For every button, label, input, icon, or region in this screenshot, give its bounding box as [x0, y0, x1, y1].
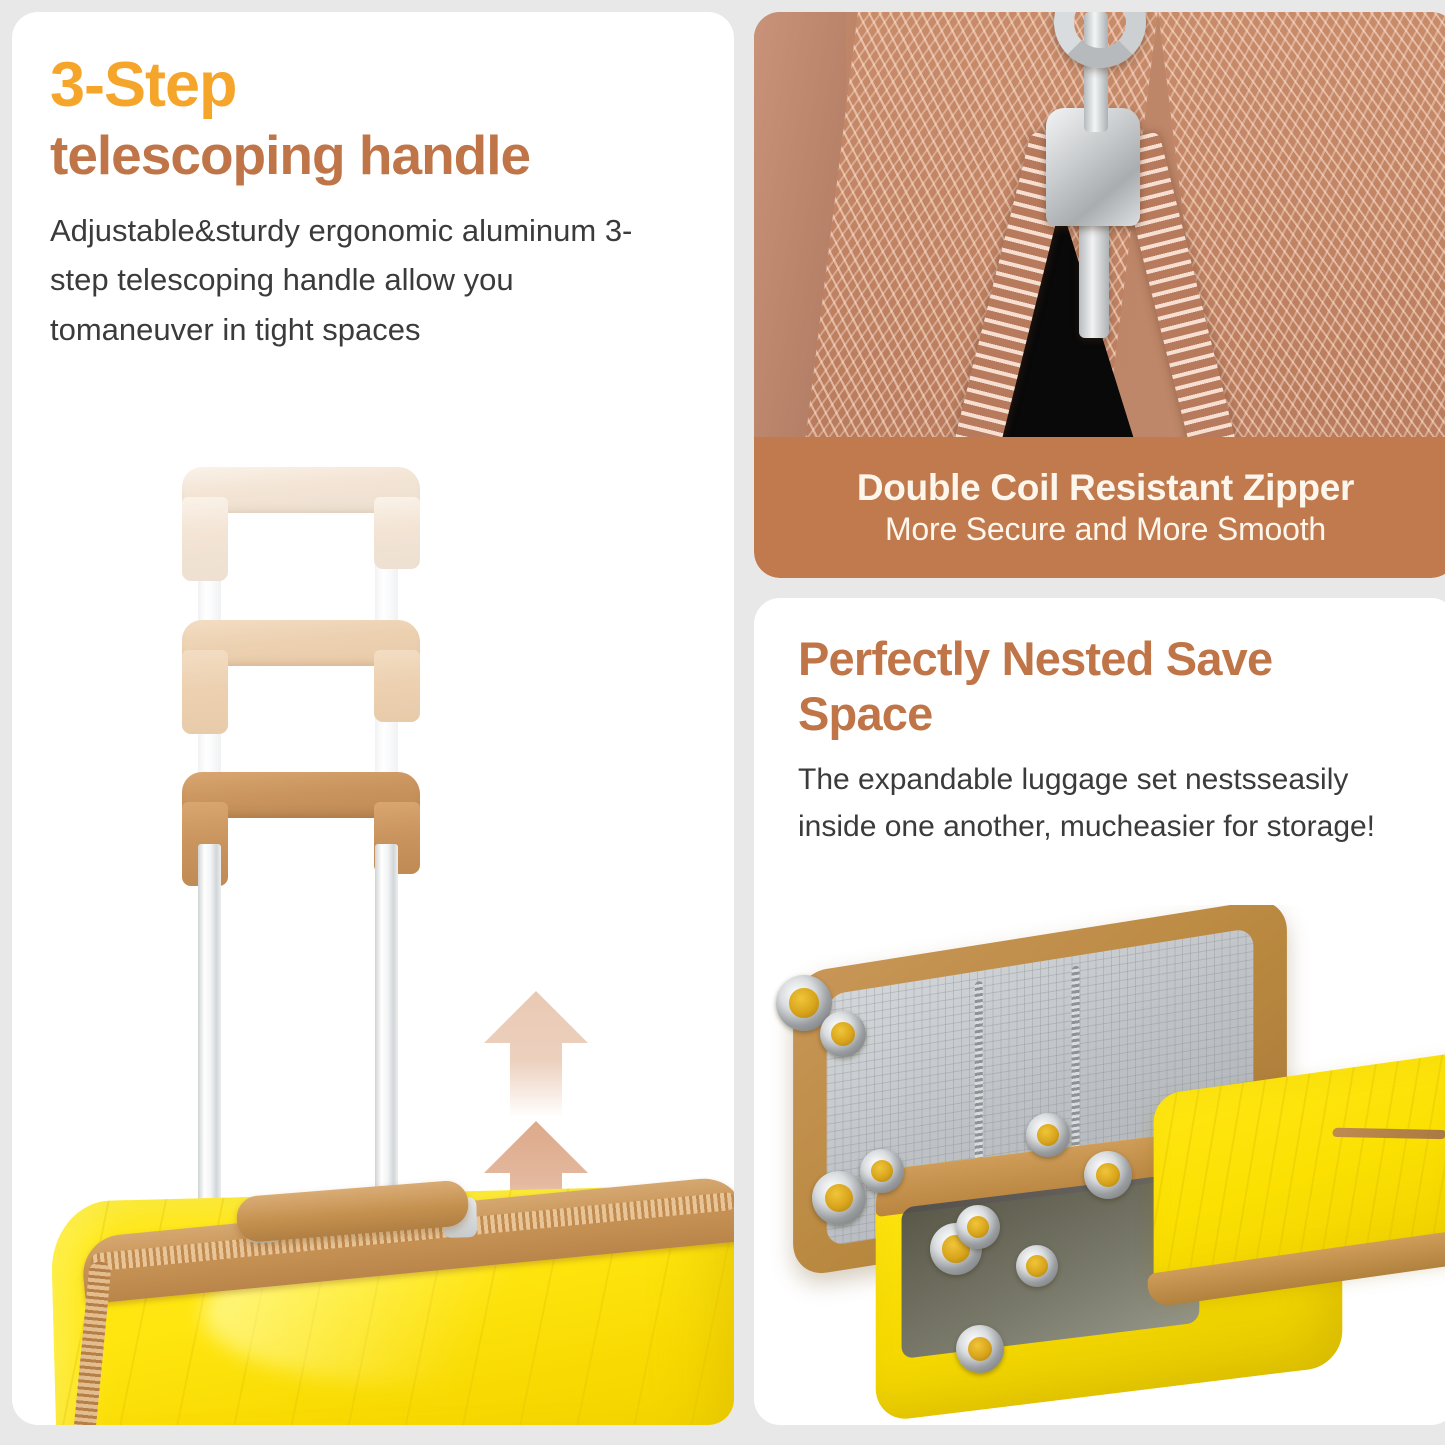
spinner-wheel: [820, 1011, 866, 1057]
arrow-up-icon-faint: [484, 987, 588, 1117]
right-column: Double Coil Resistant Zipper More Secure…: [754, 12, 1445, 1425]
spinner-wheel: [860, 1149, 904, 1193]
left-column: 3-Step telescoping handle Adjustable&stu…: [12, 12, 734, 1425]
handle-headline: 3-Step telescoping handle: [12, 12, 734, 188]
nested-title: Perfectly Nested Save Space: [798, 632, 1398, 741]
spinner-wheel: [1026, 1113, 1070, 1157]
panel-telescoping-handle: 3-Step telescoping handle Adjustable&stu…: [12, 12, 734, 1425]
spinner-wheel: [956, 1205, 1000, 1249]
handle-leg-right: [374, 650, 420, 722]
handle-headline-highlight: 3-Step: [50, 54, 734, 117]
zipper-caption-subtitle: More Secure and More Smooth: [885, 511, 1326, 548]
yellow-suitcase-photo: [12, 1165, 734, 1425]
handle-body-text: Adjustable&sturdy ergonomic aluminum 3-s…: [50, 206, 650, 355]
handle-leg-left: [182, 650, 228, 734]
handle-headline-main: telescoping handle: [50, 123, 734, 188]
handle-leg-left: [182, 497, 228, 581]
spinner-wheel: [956, 1325, 1004, 1373]
infographic-board: 3-Step telescoping handle Adjustable&stu…: [0, 0, 1445, 1445]
handle-leg-right: [374, 497, 420, 569]
spinner-wheel: [1016, 1245, 1058, 1287]
zipper-slider-neck: [1079, 208, 1109, 338]
nested-body-text: The expandable luggage set nestsseasily …: [798, 757, 1388, 850]
nested-luggage-photo: [754, 905, 1445, 1425]
zipper-closeup-photo: [754, 12, 1445, 437]
spinner-wheel: [812, 1171, 866, 1225]
panel-zipper: Double Coil Resistant Zipper More Secure…: [754, 12, 1445, 578]
zipper-caption-bar: Double Coil Resistant Zipper More Secure…: [754, 437, 1445, 578]
nested-header: Perfectly Nested Save Space: [754, 598, 1445, 741]
handle-position-1: [182, 467, 420, 579]
suitcase-shell: [50, 1184, 734, 1425]
zipper-caption-title: Double Coil Resistant Zipper: [857, 467, 1354, 509]
handle-position-2: [182, 620, 420, 732]
panel-nested-space: Perfectly Nested Save Space The expandab…: [754, 598, 1445, 1425]
spinner-wheel: [1084, 1151, 1132, 1199]
